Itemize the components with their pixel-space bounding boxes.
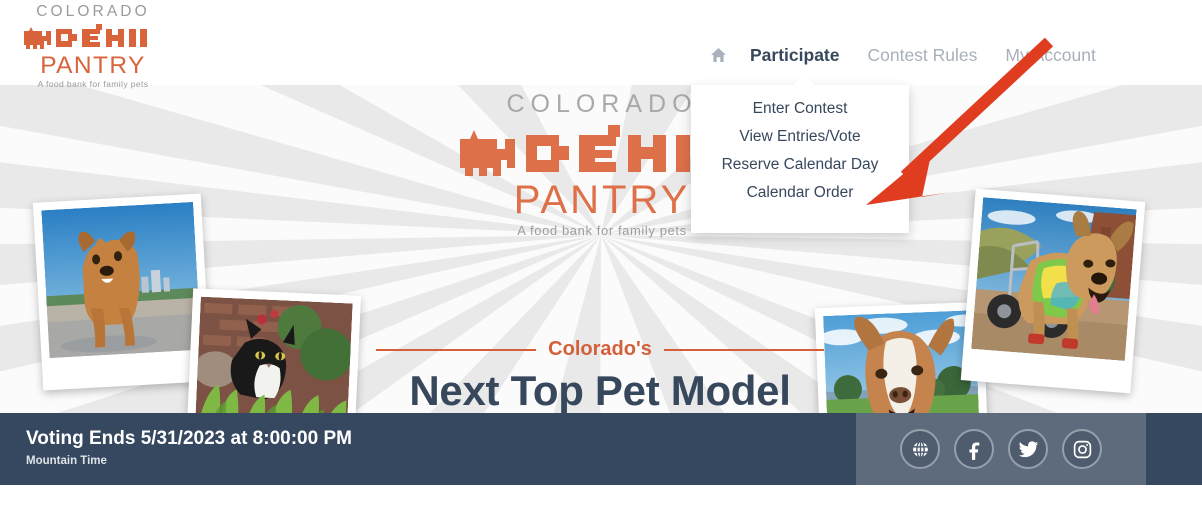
social-links-panel: [856, 413, 1146, 485]
website-globe-icon[interactable]: [900, 429, 940, 469]
page-root: COLORADO PANTRY A food bank fo: [0, 0, 1202, 508]
nav-item-my-account[interactable]: My Account: [991, 44, 1109, 66]
nav-item-contest-rules[interactable]: Contest Rules: [853, 44, 991, 66]
kicker-rule-right: [664, 349, 824, 351]
nav-item-participate[interactable]: Participate: [736, 44, 853, 66]
hero-kicker-row: Colorado's: [330, 338, 870, 361]
twitter-icon[interactable]: [1008, 429, 1048, 469]
pet-pantry-dog-mark-icon: [20, 21, 166, 53]
menu-item-reserve-calendar-day[interactable]: Reserve Calendar Day: [691, 151, 909, 179]
polaroid-wheelchair-dog[interactable]: [961, 189, 1146, 394]
bottom-content-card: [872, 485, 1130, 508]
logo-top-text: COLORADO: [20, 4, 166, 20]
voting-deadline-text: Voting Ends 5/31/2023 at 8:00:00 PM: [26, 427, 352, 451]
home-icon[interactable]: [700, 44, 736, 68]
main-navigation: Participate Contest Rules My Account: [700, 44, 1110, 78]
instagram-icon[interactable]: [1062, 429, 1102, 469]
voting-deadline: Voting Ends 5/31/2023 at 8:00:00 PM Moun…: [26, 427, 352, 469]
site-header: COLORADO PANTRY A food bank fo: [0, 0, 1202, 85]
hero-title-block: Colorado's Next Top Pet Model Calendar C…: [330, 338, 870, 413]
menu-item-enter-contest[interactable]: Enter Contest: [691, 95, 909, 123]
site-logo[interactable]: COLORADO PANTRY A food bank fo: [20, 4, 170, 82]
dropdown-caret-icon: [793, 74, 815, 85]
logo-wordmark: PANTRY: [20, 53, 166, 78]
menu-item-calendar-order[interactable]: Calendar Order: [691, 179, 909, 207]
hero-kicker: Colorado's: [548, 338, 652, 361]
logo-tagline: A food bank for family pets: [20, 79, 166, 89]
voting-timezone: Mountain Time: [26, 453, 352, 469]
polaroid-dog-waterfront[interactable]: [33, 193, 211, 390]
menu-item-view-entries-vote[interactable]: View Entries/Vote: [691, 123, 909, 151]
participate-dropdown-menu: Enter Contest View Entries/Vote Reserve …: [691, 85, 909, 233]
kicker-rule-left: [376, 349, 536, 351]
hero-title: Next Top Pet Model: [330, 365, 870, 413]
facebook-icon[interactable]: [954, 429, 994, 469]
hero-banner: COLORADO PANTRY A food bank fo: [0, 85, 1202, 413]
